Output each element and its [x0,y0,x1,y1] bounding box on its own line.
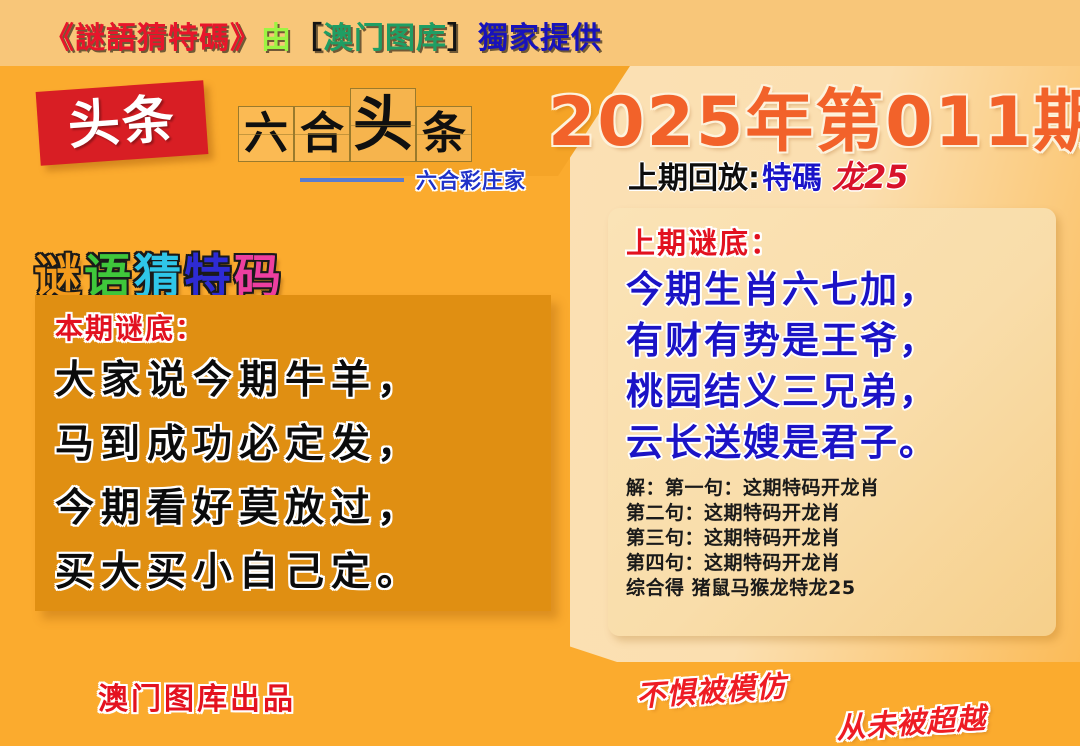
logo-subtitle: 六合彩庄家 [416,165,526,195]
header-segment-0: 《謎語猜特碼》 [44,13,261,57]
explanation-lines: 解：第一句：这期特码开龙肖第二句：这期特码开龙肖第三句：这期特码开龙肖第四句：这… [626,476,1042,601]
logo-grid-cell-头: 头 [350,88,416,162]
answer-line-3: 云长送嫂是君子。 [626,417,1042,468]
poster-root: 《謎語猜特碼》由［澳门图库］獨家提供 头条 六合头条 六合彩庄家 2025年第0… [0,0,1080,746]
header-segment-3: 澳门图库 [323,13,447,57]
explain-line-3: 第四句：这期特码开龙肖 [626,551,1042,576]
header-segment-1: 由 [261,13,292,57]
previous-answer-lines: 今期生肖六七加，有财有势是王爷，桃园结义三兄弟，云长送嫂是君子。 [626,264,1042,468]
logo-grid-cell-六: 六 [238,106,294,162]
logo-subtitle-row: 六合彩庄家 [300,165,526,195]
previous-answer-panel: 上期谜底： 今期生肖六七加，有财有势是王爷，桃园结义三兄弟，云长送嫂是君子。 解… [608,208,1056,636]
answer-line-2: 桃园结义三兄弟， [626,366,1042,417]
replay-special: 特碼 [762,153,822,197]
explain-line-0: 解：第一句：这期特码开龙肖 [626,476,1042,501]
replay-label: 上期回放: [628,153,760,197]
logo-grid-cell-合: 合 [294,106,350,162]
issue-title: 2025年第011期 [548,66,1080,165]
replay-row: 上期回放: 特碼 龙25 [628,152,909,198]
current-riddle-lines: 大家说今期牛羊，马到成功必定发，今期看好莫放过，买大买小自己定。 [55,349,535,605]
liuhe-toutiao-logo: 六合头条 [238,88,472,162]
current-riddle-panel: 本期谜底： 大家说今期牛羊，马到成功必定发，今期看好莫放过，买大买小自己定。 [35,295,551,611]
replay-number: 龙25 [832,152,909,198]
previous-answer-label: 上期谜底： [626,220,1042,262]
brand-footer: 澳门图库出品 [98,674,296,718]
current-riddle-label: 本期谜底： [55,307,535,347]
header-segment-4: ］ [447,13,478,57]
header-segment-5: 獨家提供 [478,13,602,57]
explain-line-2: 第三句：这期特码开龙肖 [626,526,1042,551]
header-tagline: 《謎語猜特碼》由［澳门图库］獨家提供 [44,16,602,54]
explain-line-1: 第二句：这期特码开龙肖 [626,501,1042,526]
answer-line-1: 有财有势是王爷， [626,315,1042,366]
riddle-line-1: 马到成功必定发， [55,413,535,477]
answer-line-0: 今期生肖六七加， [626,264,1042,315]
riddle-line-3: 买大买小自己定。 [55,541,535,605]
divider-rule [300,178,404,182]
header-segment-2: ［ [292,13,323,57]
explain-line-4: 综合得 猪鼠马猴龙特龙25 [626,576,1042,601]
toutiao-badge: 头条 [36,80,209,166]
riddle-line-2: 今期看好莫放过， [55,477,535,541]
riddle-line-0: 大家说今期牛羊， [55,349,535,413]
toutiao-badge-label: 头条 [66,93,177,152]
logo-grid-cell-条: 条 [416,106,472,162]
